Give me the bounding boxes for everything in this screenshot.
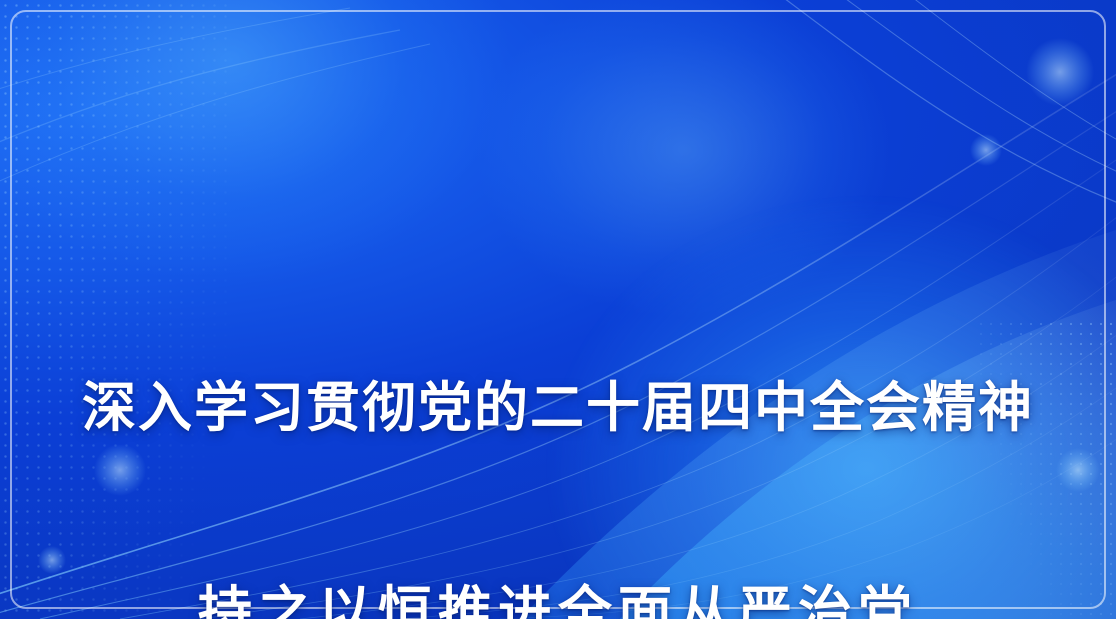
banner-root: 深入学习贯彻党的二十届四中全会精神 持之以恒推进全面从严治党	[0, 0, 1116, 619]
headline-line-1: 深入学习贯彻党的二十届四中全会精神	[0, 374, 1116, 442]
headline: 深入学习贯彻党的二十届四中全会精神 持之以恒推进全面从严治党	[0, 238, 1116, 619]
headline-line-2: 持之以恒推进全面从严治党	[0, 578, 1116, 619]
